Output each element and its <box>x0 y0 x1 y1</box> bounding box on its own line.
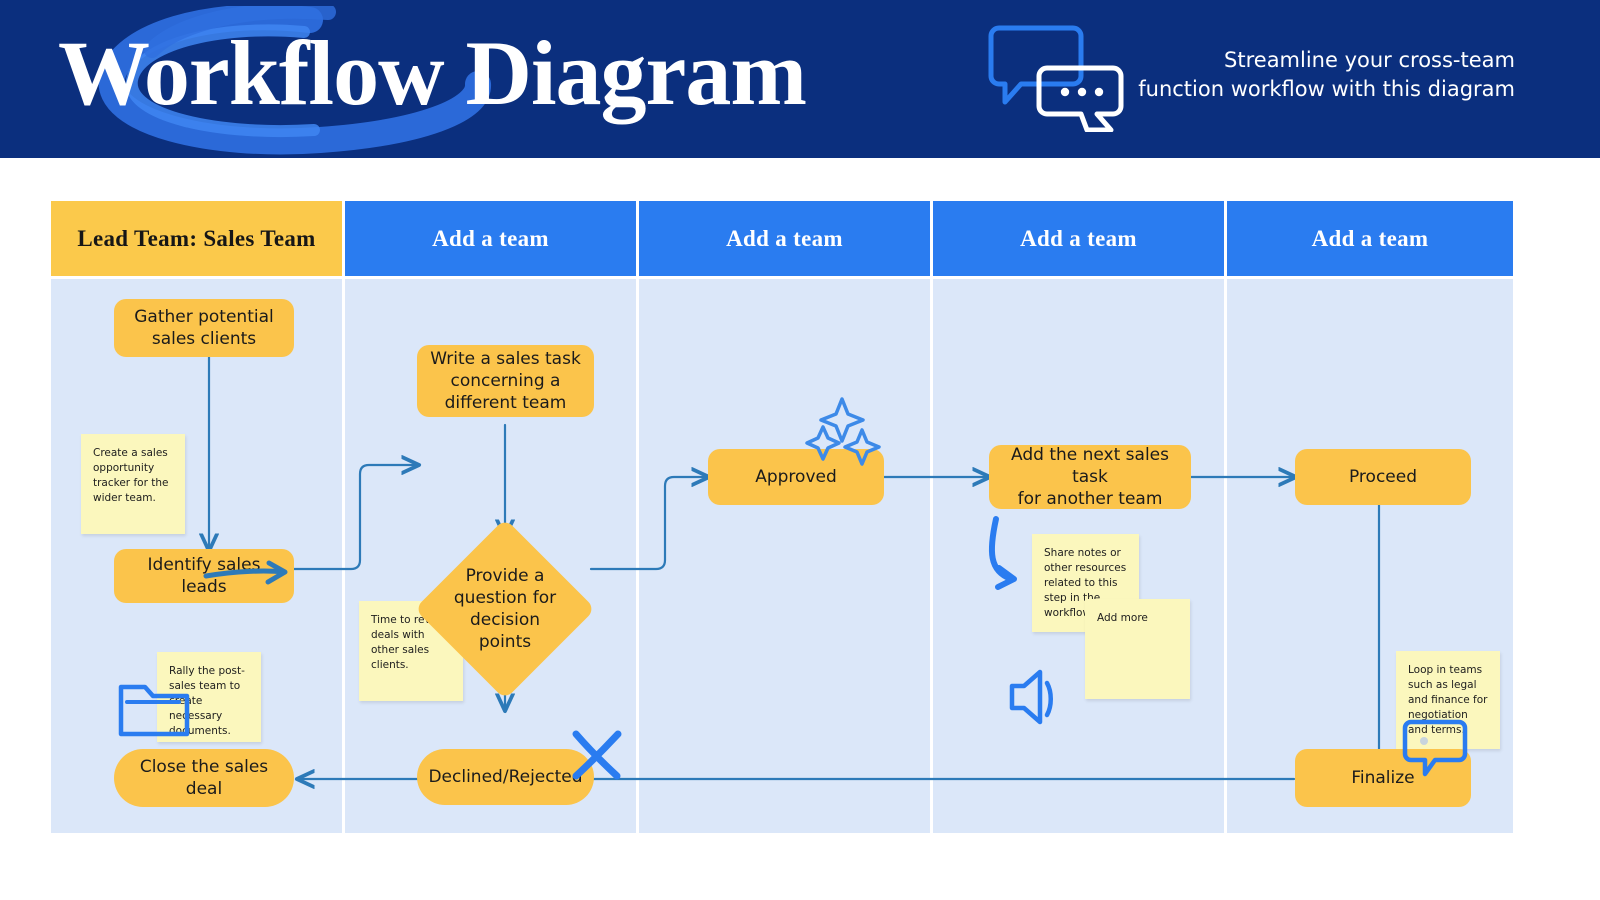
swimlane-board: Lead Team: Sales Team Add a team Add a t… <box>51 201 1513 833</box>
sticky-note-loopin[interactable]: Loop in teams such as legal and finance … <box>1396 651 1500 749</box>
lane-background-row: Create a sales opportunity tracker for t… <box>51 279 1513 833</box>
node-approved[interactable]: Approved <box>708 449 884 505</box>
sticky-note-postsales[interactable]: Rally the post-sales team to create nece… <box>157 652 261 742</box>
header-subtitle: Streamline your cross-team function work… <box>1138 46 1515 104</box>
node-close-the-sales-deal[interactable]: Close the sales deal <box>114 749 294 807</box>
connector-decision-to-approved <box>591 477 707 569</box>
column-header-row: Lead Team: Sales Team Add a team Add a t… <box>51 201 1513 276</box>
node-finalize[interactable]: Finalize <box>1295 749 1471 807</box>
node-add-next-sales-task[interactable]: Add the next sales task for another team <box>989 445 1191 509</box>
node-proceed[interactable]: Proceed <box>1295 449 1471 505</box>
column-header-team-3[interactable]: Add a team <box>639 201 930 276</box>
column-header-lead-team[interactable]: Lead Team: Sales Team <box>51 201 342 276</box>
sticky-note-addmore[interactable]: Add more <box>1085 599 1190 699</box>
column-header-team-2[interactable]: Add a team <box>345 201 636 276</box>
page-header: Workflow Diagram Streamline your cross-t… <box>0 0 1600 158</box>
node-identify-sales-leads[interactable]: Identify sales leads <box>114 549 294 603</box>
sticky-note-tracker[interactable]: Create a sales opportunity tracker for t… <box>81 434 185 534</box>
workflow-diagram-page: Workflow Diagram Streamline your cross-t… <box>0 0 1600 900</box>
node-write-a-sales-task[interactable]: Write a sales task concerning a differen… <box>417 345 594 417</box>
connector-identify-to-write <box>291 465 417 569</box>
column-header-team-4[interactable]: Add a team <box>933 201 1224 276</box>
page-title: Workflow Diagram <box>58 14 806 132</box>
column-header-team-5[interactable]: Add a team <box>1227 201 1513 276</box>
header-bubble-icons <box>985 22 1130 132</box>
node-declined-rejected[interactable]: Declined/Rejected <box>417 749 594 805</box>
node-gather-potential-sales-clients[interactable]: Gather potential sales clients <box>114 299 294 357</box>
